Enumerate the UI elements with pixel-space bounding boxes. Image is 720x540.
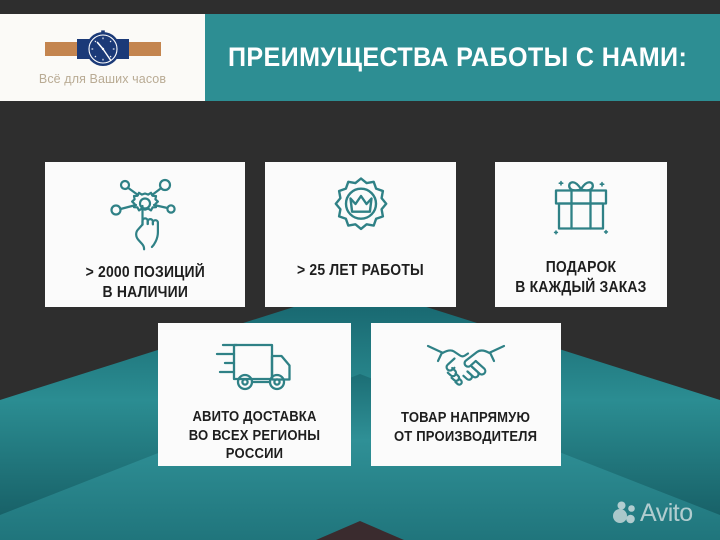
icon-wrap — [371, 323, 561, 394]
benefit-card-label: АВИТО ДОСТАВКА ВО ВСЕХ РЕГИОНЫ РОССИИ — [168, 408, 342, 464]
page-title: ПРЕИМУЩЕСТВА РАБОТЫ С НАМИ: — [228, 14, 687, 101]
benefit-card-label: > 25 ЛЕТ РАБОТЫ — [297, 261, 424, 281]
delivery-truck-icon — [214, 337, 296, 395]
icon-wrap — [495, 162, 667, 246]
benefit-card-manufacturer: ТОВАР НАПРЯМУЮ ОТ ПРОИЗВОДИТЕЛЯ — [371, 323, 561, 466]
quality-badge-crown-icon — [327, 175, 395, 243]
benefit-card-label: ПОДАРОК В КАЖДЫЙ ЗАКАЗ — [515, 258, 646, 298]
brand-logo-panel: Всё для Ваших часов — [0, 14, 205, 101]
icon-wrap — [265, 162, 456, 243]
avito-watermark-label: Avito — [640, 501, 693, 526]
benefit-card-experience: > 25 ЛЕТ РАБОТЫ — [265, 162, 456, 307]
network-hand-pointer-icon — [109, 176, 181, 252]
benefit-card-positions: > 2000 ПОЗИЦИЙ В НАЛИЧИИ — [45, 162, 245, 307]
wristwatch-icon — [43, 29, 163, 69]
benefit-card-label: ТОВАР НАПРЯМУЮ ОТ ПРОИЗВОДИТЕЛЯ — [394, 409, 537, 446]
promo-banner: Всё для Ваших часов ПРЕИМУЩЕСТВА РАБОТЫ … — [0, 0, 720, 540]
benefit-card-delivery: АВИТО ДОСТАВКА ВО ВСЕХ РЕГИОНЫ РОССИИ — [158, 323, 351, 466]
avito-watermark: Avito — [612, 500, 693, 526]
benefit-card-gift: ПОДАРОК В КАЖДЫЙ ЗАКАЗ — [495, 162, 667, 307]
handshake-icon — [425, 340, 507, 394]
avito-dots-icon — [612, 500, 638, 526]
gift-box-icon — [545, 174, 617, 246]
brand-tagline: Всё для Ваших часов — [39, 72, 166, 86]
benefit-card-label: > 2000 ПОЗИЦИЙ В НАЛИЧИИ — [85, 263, 204, 303]
icon-wrap — [45, 162, 245, 252]
icon-wrap — [158, 323, 351, 395]
